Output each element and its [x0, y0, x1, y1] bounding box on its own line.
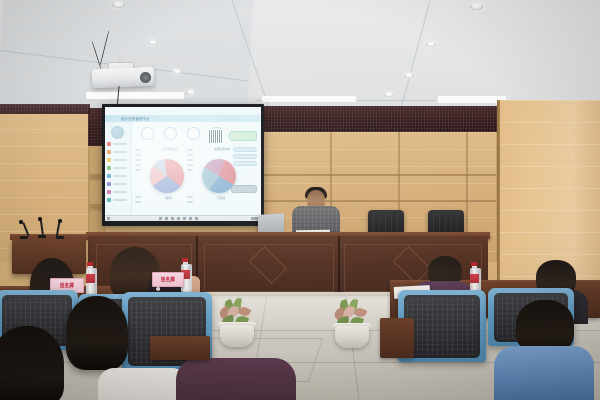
downlight-icon [384, 92, 394, 97]
projection-screen[interactable]: 统计分析管理平台 [105, 107, 261, 221]
sidebar-item[interactable] [107, 142, 129, 147]
sidebar-item[interactable] [107, 174, 129, 179]
chart-title-right: 办理状态分布 [195, 147, 249, 151]
microphone-base [56, 236, 64, 239]
qr-code-icon [208, 129, 223, 144]
downlight-icon [112, 1, 125, 8]
taskbar-app-icon[interactable] [165, 217, 168, 220]
side-panel-chip[interactable] [233, 161, 257, 166]
downlight-icon [172, 69, 182, 74]
dashboard-sidebar[interactable] [105, 122, 132, 215]
audience-desk-foreground [380, 318, 414, 358]
downlight-icon [426, 42, 436, 47]
projector-lens-icon [140, 72, 151, 83]
led-display-band-top [0, 104, 90, 114]
led-display-band [262, 106, 504, 132]
ceiling-recess-right [438, 96, 506, 103]
microphone-base [20, 236, 28, 239]
downlight-icon [404, 73, 414, 78]
conference-room-photo: 统计分析管理平台 [0, 0, 600, 400]
name-card: 姓名牌 [152, 272, 184, 287]
sidebar-item[interactable] [107, 158, 129, 163]
kpi-circle[interactable] [141, 127, 154, 140]
windows-taskbar[interactable] [105, 215, 261, 221]
sidebar-item[interactable] [107, 166, 129, 171]
plant-pot [220, 325, 254, 347]
chart-caption-left: 类型A [145, 196, 193, 200]
ceiling-recess-center [262, 96, 356, 102]
taskbar-app-icon[interactable] [177, 217, 180, 220]
microphone-head-icon [38, 217, 42, 221]
avatar [111, 126, 124, 139]
downlight-icon [186, 90, 196, 95]
microphone-head-icon [58, 219, 62, 223]
start-icon[interactable] [107, 217, 110, 220]
microphone-base [38, 235, 46, 238]
taskbar-app-icon[interactable] [171, 217, 174, 220]
taskbar-app-icon[interactable] [195, 217, 198, 220]
ceiling-recess-left [86, 92, 184, 99]
kpi-circle[interactable] [187, 127, 200, 140]
dashboard-title: 统计分析管理平台 [121, 116, 150, 121]
audience-desk-foreground [150, 336, 210, 360]
name-card-text: 姓名牌 [60, 282, 74, 290]
sidebar-item[interactable] [107, 150, 129, 155]
side-panel-chip[interactable] [233, 154, 257, 159]
ceiling-soffit-left [0, 0, 253, 118]
name-card-text: 姓名牌 [161, 276, 175, 284]
chart-caption-right: 已完成 [197, 196, 245, 200]
sidebar-item[interactable] [107, 182, 129, 187]
taskbar-app-icon[interactable] [189, 217, 192, 220]
pie-chart-left[interactable] [150, 159, 184, 193]
downlight-icon [148, 40, 158, 45]
downlight-icon [470, 3, 483, 10]
taskbar-app-icon[interactable] [183, 217, 186, 220]
kpi-circle[interactable] [164, 127, 177, 140]
microphone-head-icon [19, 220, 23, 224]
plant-pot [335, 326, 369, 348]
floating-action-button[interactable] [231, 185, 257, 193]
taskbar-app-icon[interactable] [159, 217, 162, 220]
sidebar-item[interactable] [107, 190, 129, 195]
taskbar-clock[interactable] [251, 217, 258, 220]
scan-login-button[interactable] [229, 131, 257, 141]
sidebar-item[interactable] [107, 198, 129, 203]
